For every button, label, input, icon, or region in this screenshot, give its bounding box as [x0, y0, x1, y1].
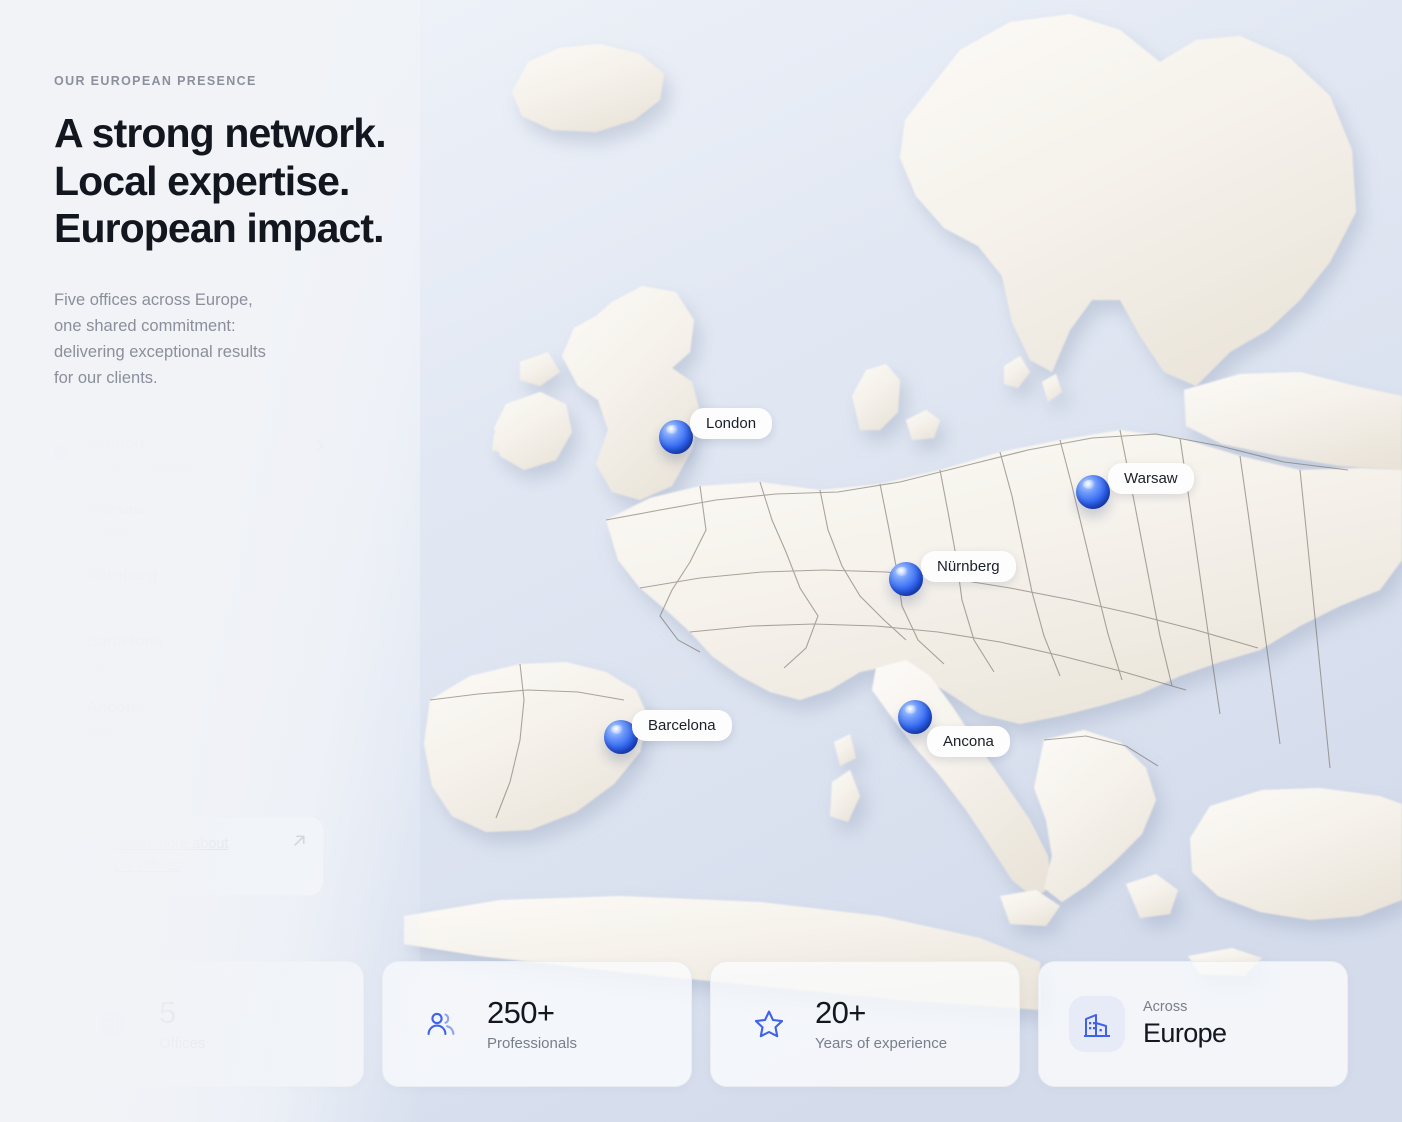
stat-label: Professionals	[487, 1035, 577, 1052]
intro-subcopy: Five offices across Europe, one shared c…	[54, 287, 304, 391]
pin-label: Nürnberg	[921, 551, 1016, 582]
pin-marker-icon[interactable]	[659, 420, 693, 454]
pin-label: Ancona	[927, 726, 1010, 757]
pin-marker-icon[interactable]	[889, 562, 923, 596]
subcopy-line-1: Five offices across Europe,	[54, 291, 253, 309]
stat-label: Years of experience	[815, 1035, 947, 1052]
pin-marker-icon[interactable]	[1076, 475, 1110, 509]
stat-label: Across	[1143, 999, 1226, 1015]
subcopy-line-3: delivering exceptional results	[54, 343, 266, 361]
office-map-hero: LondonWarsawNürnbergBarcelonaAncona OUR …	[0, 0, 1402, 1122]
stat-value: 250+	[487, 996, 577, 1031]
stat-text: 250+ Professionals	[487, 996, 577, 1052]
stat-value: 20+	[815, 996, 947, 1031]
eyebrow-label: OUR EUROPEAN PRESENCE	[54, 74, 420, 88]
pin-label: London	[690, 408, 772, 439]
stat-card-professionals[interactable]: 250+ Professionals	[382, 961, 692, 1087]
stat-card-years-of-experience[interactable]: 20+ Years of experience	[710, 961, 1020, 1087]
stat-text: 20+ Years of experience	[815, 996, 947, 1052]
stat-text: Across Europe	[1143, 999, 1226, 1048]
subcopy-line-2: one shared commitment:	[54, 317, 236, 335]
headline-line-1: A strong network.	[54, 110, 386, 156]
headline-line-2: Local expertise.	[54, 158, 350, 204]
intro-panel: OUR EUROPEAN PRESENCE A strong network. …	[0, 0, 420, 1122]
page-title: A strong network. Local expertise. Europ…	[54, 110, 420, 253]
stat-value: Europe	[1143, 1018, 1226, 1048]
buildings-icon	[1069, 996, 1125, 1052]
star-icon	[741, 996, 797, 1052]
headline-line-3: European impact.	[54, 205, 384, 251]
pin-label: Warsaw	[1108, 463, 1194, 494]
pin-label: Barcelona	[632, 710, 732, 741]
people-icon	[413, 996, 469, 1052]
subcopy-line-4: for our clients.	[54, 369, 158, 387]
stat-card-across[interactable]: Across Europe	[1038, 961, 1348, 1087]
pin-marker-icon[interactable]	[898, 700, 932, 734]
